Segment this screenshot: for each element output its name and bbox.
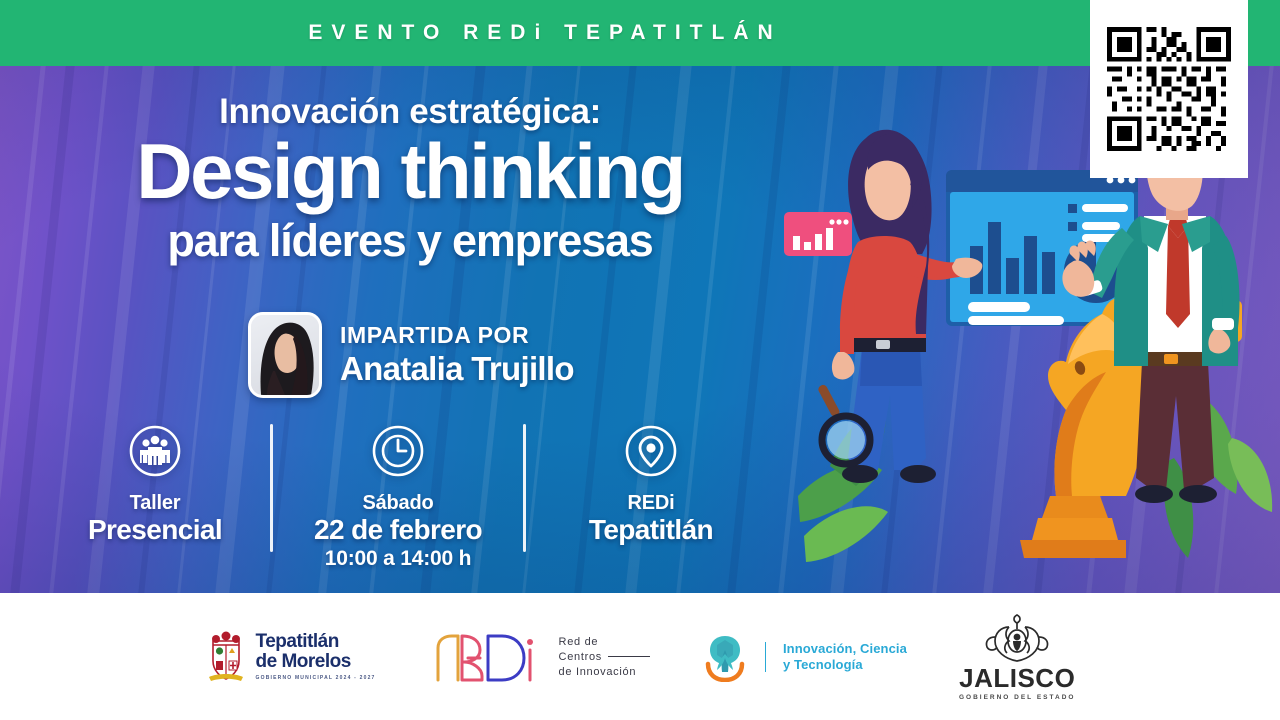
event-banner-title: EVENTO REDi TEPATITLÁN bbox=[0, 0, 1090, 66]
headline-subtitle: para líderes y empresas bbox=[60, 217, 760, 264]
ict-line1: Innovación, Ciencia bbox=[783, 641, 907, 657]
modality-label: Taller bbox=[40, 492, 270, 515]
jalisco-gobierno-del-estado-logo: JALISCO GOBIERNO DEL ESTADO bbox=[959, 613, 1076, 701]
tepatitlan-line2: de Morelos bbox=[256, 652, 376, 672]
people-icon bbox=[40, 420, 270, 482]
redi-logo: Red de Centros de Innovación bbox=[428, 628, 650, 686]
innovacion-ciencia-tecnologia-logo: Innovación, Ciencia y Tecnología bbox=[702, 632, 907, 682]
qr-code-panel[interactable] bbox=[1090, 0, 1248, 178]
footer-logo-bar: Tepatitlán de Morelos GOBIERNO MUNICIPAL… bbox=[0, 593, 1280, 720]
speaker-name: Anatalia Trujillo bbox=[340, 350, 574, 388]
ict-divider bbox=[765, 642, 766, 672]
speaker-block: IMPARTIDA POR Anatalia Trujillo bbox=[248, 312, 574, 398]
tepatitlan-line1: Tepatitlán bbox=[256, 632, 376, 652]
event-details-row: Taller Presencial Sábado 22 de febrero 1… bbox=[40, 420, 800, 570]
headline-pretitle: Innovación estratégica: bbox=[60, 92, 760, 132]
time-value: 10:00 a 14:00 h bbox=[273, 547, 523, 571]
tepatitlan-de-morelos-logo: Tepatitlán de Morelos GOBIERNO MUNICIPAL… bbox=[205, 631, 376, 683]
ict-logo-text: Innovación, Ciencia y Tecnología bbox=[783, 641, 907, 672]
redi-line1: Red de bbox=[559, 636, 650, 648]
detail-date: Sábado 22 de febrero 10:00 a 14:00 h bbox=[273, 420, 523, 571]
redi-line2-wrap: Centros bbox=[559, 651, 650, 663]
location-value: Tepatitlán bbox=[526, 515, 776, 545]
headline-title: Design thinking bbox=[60, 134, 760, 209]
pink-chart-card bbox=[784, 212, 852, 256]
speaker-text: IMPARTIDA POR Anatalia Trujillo bbox=[340, 322, 574, 388]
tepatitlan-subtitle: GOBIERNO MUNICIPAL 2024 - 2027 bbox=[256, 675, 376, 681]
date-value: 22 de febrero bbox=[273, 515, 523, 545]
tepatitlan-logo-text: Tepatitlán de Morelos GOBIERNO MUNICIPAL… bbox=[256, 632, 376, 681]
detail-modality: Taller Presencial bbox=[40, 420, 270, 545]
jalisco-subtitle: GOBIERNO DEL ESTADO bbox=[959, 694, 1076, 701]
qr-code[interactable] bbox=[1107, 27, 1231, 151]
clock-icon bbox=[273, 420, 523, 482]
location-label: REDi bbox=[526, 492, 776, 515]
speaker-avatar bbox=[248, 312, 322, 398]
redi-rule bbox=[608, 656, 650, 657]
location-pin-icon bbox=[526, 420, 776, 482]
headline-block: Innovación estratégica: Design thinking … bbox=[60, 92, 760, 264]
event-poster: EVENTO REDi TEPATITLÁN bbox=[0, 0, 1280, 720]
ict-line2: y Tecnología bbox=[783, 657, 907, 673]
redi-logo-text: Red de Centros de Innovación bbox=[559, 636, 650, 678]
event-banner-bar: EVENTO REDi TEPATITLÁN bbox=[0, 0, 1280, 66]
redi-line3: de Innovación bbox=[559, 666, 650, 678]
modality-value: Presencial bbox=[40, 515, 270, 545]
detail-location: REDi Tepatitlán bbox=[526, 420, 776, 545]
speaker-label: IMPARTIDA POR bbox=[340, 322, 574, 349]
redi-line2: Centros bbox=[559, 651, 602, 663]
jalisco-logo-text: JALISCO GOBIERNO DEL ESTADO bbox=[959, 613, 1076, 701]
date-day: Sábado bbox=[273, 492, 523, 515]
jalisco-name: JALISCO bbox=[959, 665, 1075, 691]
